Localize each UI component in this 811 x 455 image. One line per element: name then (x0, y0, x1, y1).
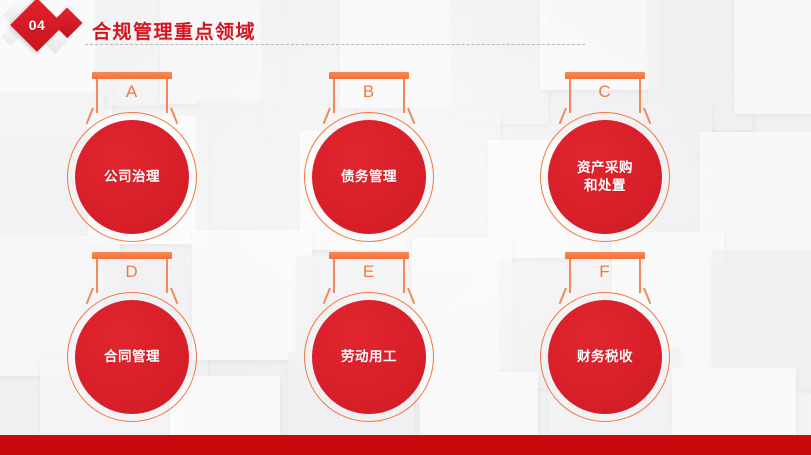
flask-flare-right (643, 288, 651, 305)
flask-cap-icon (92, 252, 172, 259)
page-title: 合规管理重点领域 (92, 17, 256, 44)
flask-letter: F (530, 262, 680, 282)
flask-flare-right (643, 108, 651, 125)
flask-label: 劳动用工 (341, 348, 397, 366)
flask-cap-icon (565, 72, 645, 79)
title-divider (85, 44, 585, 45)
flask-letter: D (57, 262, 207, 282)
flask-circle[interactable]: 公司治理 (75, 120, 189, 234)
section-number-label: 04 (18, 6, 56, 44)
flask-circle[interactable]: 资产采购 和处置 (548, 120, 662, 234)
flask-label: 债务管理 (341, 168, 397, 186)
flask-label: 资产采购 和处置 (577, 159, 633, 195)
flask-flare-left (559, 108, 567, 125)
flask-circle[interactable]: 合同管理 (75, 300, 189, 414)
slide-header: 04 合规管理重点领域 (0, 0, 811, 60)
flask-item-a[interactable]: A公司治理 (57, 72, 207, 242)
flask-label: 合同管理 (104, 348, 160, 366)
flask-flare-left (559, 288, 567, 305)
flask-circle[interactable]: 债务管理 (312, 120, 426, 234)
flask-item-e[interactable]: E劳动用工 (294, 252, 444, 422)
flask-letter: A (57, 82, 207, 102)
flask-flare-left (323, 108, 331, 125)
flask-item-f[interactable]: F财务税收 (530, 252, 680, 422)
flask-letter: E (294, 262, 444, 282)
flask-cap-icon (92, 72, 172, 79)
flask-label: 财务税收 (577, 348, 633, 366)
flask-flare-left (86, 108, 94, 125)
flask-item-b[interactable]: B债务管理 (294, 72, 444, 242)
flask-item-d[interactable]: D合同管理 (57, 252, 207, 422)
flask-circle[interactable]: 财务税收 (548, 300, 662, 414)
flask-flare-right (407, 108, 415, 125)
flask-cap-icon (329, 252, 409, 259)
flask-cap-icon (565, 252, 645, 259)
flask-flare-left (86, 288, 94, 305)
flask-cap-icon (329, 72, 409, 79)
flask-letter: C (530, 82, 680, 102)
flask-label: 公司治理 (104, 168, 160, 186)
flask-item-c[interactable]: C资产采购 和处置 (530, 72, 680, 242)
flask-letter: B (294, 82, 444, 102)
flask-flare-right (407, 288, 415, 305)
flask-flare-right (170, 108, 178, 125)
flask-circle[interactable]: 劳动用工 (312, 300, 426, 414)
footer-bar (0, 435, 811, 455)
flask-flare-left (323, 288, 331, 305)
flask-flare-right (170, 288, 178, 305)
slide-canvas: 04 合规管理重点领域 A公司治理B债务管理C资产采购 和处置D合同管理E劳动用… (0, 0, 811, 455)
